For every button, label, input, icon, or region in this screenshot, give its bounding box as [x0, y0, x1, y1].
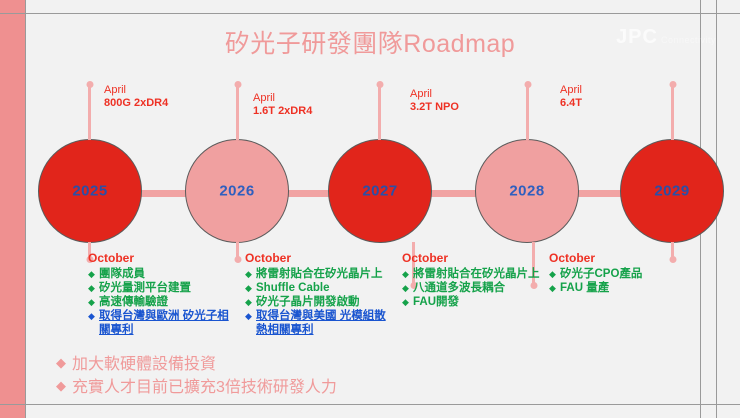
stem-dot-icon — [234, 81, 241, 88]
top-label-month: April — [104, 84, 168, 97]
top-label-value: 1.6T 2xDR4 — [253, 105, 312, 118]
roadmap-slide: 矽光子研發團隊Roadmap JPCConnectivity 2025 2026… — [0, 0, 740, 418]
detail-item: 高速傳輸驗證 — [88, 295, 240, 309]
detail-month-label: October — [549, 251, 701, 266]
milestone-node-2026[interactable]: 2026 — [185, 139, 289, 243]
stem-up-2027 — [378, 84, 381, 140]
detail-item: 將雷射貼合在矽光晶片上 — [245, 267, 397, 281]
milestone-year-label: 2027 — [329, 183, 431, 200]
detail-item: 矽光子CPO產品 — [549, 267, 701, 281]
detail-item: Shuffle Cable — [245, 281, 397, 295]
top-label-2026: April 1.6T 2xDR4 — [253, 92, 312, 118]
logo-text: JPC — [616, 26, 658, 48]
footer-note-2: ◆充實人才目前已擴充3倍技術研發人力 — [56, 375, 337, 398]
milestone-year-label: 2028 — [476, 183, 578, 200]
footer-note-1: ◆加大軟硬體設備投資 — [56, 352, 216, 375]
detail-item: 矽光子晶片開發啟動 — [245, 295, 397, 309]
diamond-bullet-icon: ◆ — [56, 375, 66, 396]
milestone-node-2027[interactable]: 2027 — [328, 139, 432, 243]
detail-list: 將雷射貼合在矽光晶片上 Shuffle Cable 矽光子晶片開發啟動 取得台灣… — [245, 267, 397, 337]
stem-up-2028 — [526, 84, 529, 140]
top-label-month: April — [410, 88, 459, 101]
guide-line-bottom — [0, 404, 740, 405]
logo-subtext: Connectivity — [661, 35, 716, 45]
top-label-month: April — [253, 92, 312, 105]
detail-item-patent: 取得台灣與美國 光模組散熱相關專利 — [245, 309, 397, 337]
stem-dot-icon — [376, 81, 383, 88]
footer-note-text: 加大軟硬體設備投資 — [72, 356, 216, 373]
detail-item: 團隊成員 — [88, 267, 240, 281]
detail-item: 將雷射貼合在矽光晶片上 — [402, 267, 554, 281]
top-label-value: 800G 2xDR4 — [104, 97, 168, 110]
jpc-logo: JPCConnectivity — [616, 26, 716, 49]
top-label-month: April — [560, 84, 582, 97]
stem-dot-icon — [86, 81, 93, 88]
detail-list: 矽光子CPO產品 FAU 量產 — [549, 267, 701, 295]
stem-dot-icon — [669, 81, 676, 88]
milestone-year-label: 2029 — [621, 183, 723, 200]
detail-block-2027: October 將雷射貼合在矽光晶片上 八通道多波長耦合 FAU開發 — [402, 251, 554, 309]
detail-list: 將雷射貼合在矽光晶片上 八通道多波長耦合 FAU開發 — [402, 267, 554, 309]
stem-up-2025 — [88, 84, 91, 140]
top-label-value: 3.2T NPO — [410, 101, 459, 114]
detail-month-label: October — [245, 251, 397, 266]
top-label-2027: April 3.2T NPO — [410, 88, 459, 114]
milestone-year-label: 2026 — [186, 183, 288, 200]
guide-line-left — [25, 0, 26, 418]
top-label-value: 6.4T — [560, 97, 582, 110]
detail-item: FAU 量產 — [549, 281, 701, 295]
left-accent-bar — [0, 0, 25, 418]
detail-block-2026: October 將雷射貼合在矽光晶片上 Shuffle Cable 矽光子晶片開… — [245, 251, 397, 337]
detail-item-patent: 取得台灣與歐洲 矽光子相關專利 — [88, 309, 240, 337]
guide-line-top — [0, 13, 740, 14]
stem-up-2029 — [671, 84, 674, 140]
milestone-node-2029[interactable]: 2029 — [620, 139, 724, 243]
detail-list: 團隊成員 矽光量測平台建置 高速傳輸驗證 取得台灣與歐洲 矽光子相關專利 — [88, 267, 240, 337]
diamond-bullet-icon: ◆ — [56, 352, 66, 373]
detail-block-2028: October 矽光子CPO產品 FAU 量產 — [549, 251, 701, 295]
top-label-2025: April 800G 2xDR4 — [104, 84, 168, 110]
detail-item: 八通道多波長耦合 — [402, 281, 554, 295]
stem-up-2026 — [236, 84, 239, 140]
stem-dot-icon — [524, 81, 531, 88]
milestone-node-2025[interactable]: 2025 — [38, 139, 142, 243]
footer-note-text: 充實人才目前已擴充3倍技術研發人力 — [72, 379, 337, 396]
top-label-2028: April 6.4T — [560, 84, 582, 110]
detail-month-label: October — [402, 251, 554, 266]
detail-month-label: October — [88, 251, 240, 266]
detail-block-2025: October 團隊成員 矽光量測平台建置 高速傳輸驗證 取得台灣與歐洲 矽光子… — [88, 251, 240, 337]
milestone-node-2028[interactable]: 2028 — [475, 139, 579, 243]
detail-item: 矽光量測平台建置 — [88, 281, 240, 295]
detail-item: FAU開發 — [402, 295, 554, 309]
milestone-year-label: 2025 — [39, 183, 141, 200]
